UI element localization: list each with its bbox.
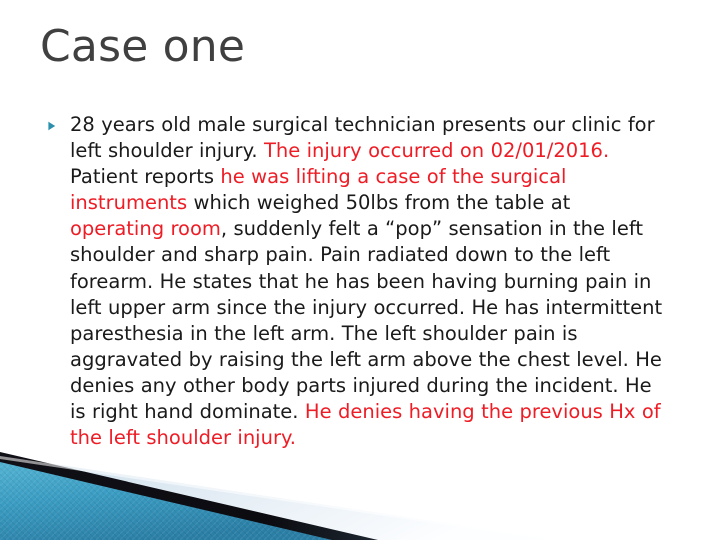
title-placeholder: Case one xyxy=(40,24,680,100)
highlighted-text-run: The injury occurred on 02/01/2016. xyxy=(264,139,609,162)
body-placeholder: 28 years old male surgical technician pr… xyxy=(44,112,664,451)
slide-canvas: Case one 28 years old male surgical tech… xyxy=(0,0,720,540)
case-description-text: 28 years old male surgical technician pr… xyxy=(70,112,664,451)
text-run: which weighed 50lbs from the table at xyxy=(187,191,570,214)
list-item: 28 years old male surgical technician pr… xyxy=(44,112,664,451)
text-run: , suddenly felt a “pop” sensation in the… xyxy=(70,217,662,423)
triangle-right-bullet-icon xyxy=(44,112,70,133)
text-run: Patient reports xyxy=(70,165,220,188)
page-title: Case one xyxy=(40,24,680,70)
bottom-diagonal-banner xyxy=(0,450,720,540)
highlighted-text-run: operating room xyxy=(70,217,221,240)
